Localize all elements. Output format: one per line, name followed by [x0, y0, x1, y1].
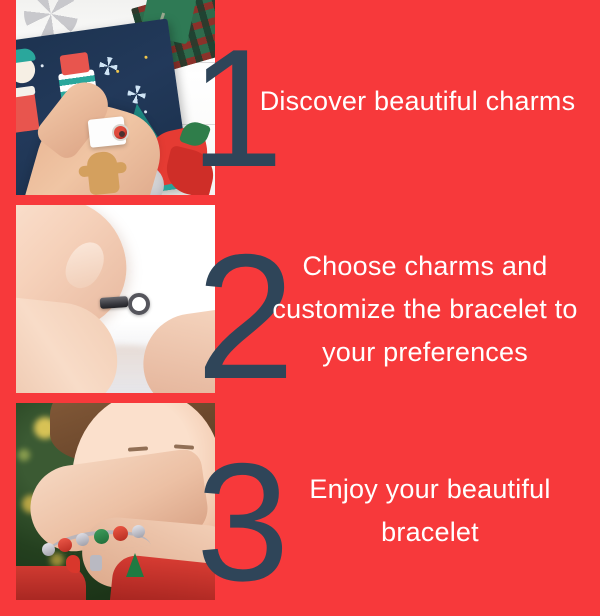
silver-bead [76, 533, 89, 546]
red-gift-icon [59, 52, 90, 76]
caption-line: Enjoy your beautiful [255, 468, 600, 511]
silver-bead [132, 525, 145, 538]
step-photo-1 [16, 0, 215, 195]
promo-infographic: { "page": { "background_color": "#F7393B… [0, 0, 600, 600]
red-bead [113, 526, 128, 541]
red-bead [58, 538, 72, 552]
caption-line: your preferences [250, 331, 600, 374]
red-charm-bead [112, 124, 129, 141]
step-caption-3: Enjoy your beautiful bracelet [255, 468, 600, 554]
jump-ring-icon [128, 293, 150, 315]
step-photo-2 [16, 205, 215, 393]
caption-line: customize the bracelet to [250, 288, 600, 331]
gift-charm [90, 555, 102, 571]
caption-line: Choose charms and [250, 245, 600, 288]
stocking-charm [66, 555, 80, 573]
step-caption-2: Choose charms and customize the bracelet… [250, 245, 600, 374]
step-caption-1: Discover beautiful charms [235, 80, 600, 123]
snowflake-icon [98, 56, 118, 76]
caption-line: Discover beautiful charms [235, 80, 600, 123]
caption-line: bracelet [255, 511, 600, 554]
gingerbread-man-icon [86, 151, 120, 195]
bracelet-clasp-icon [100, 296, 129, 309]
silver-bead [42, 543, 55, 556]
tree-charm [126, 553, 144, 577]
step-photo-3 [16, 403, 215, 600]
green-bead [94, 529, 109, 544]
